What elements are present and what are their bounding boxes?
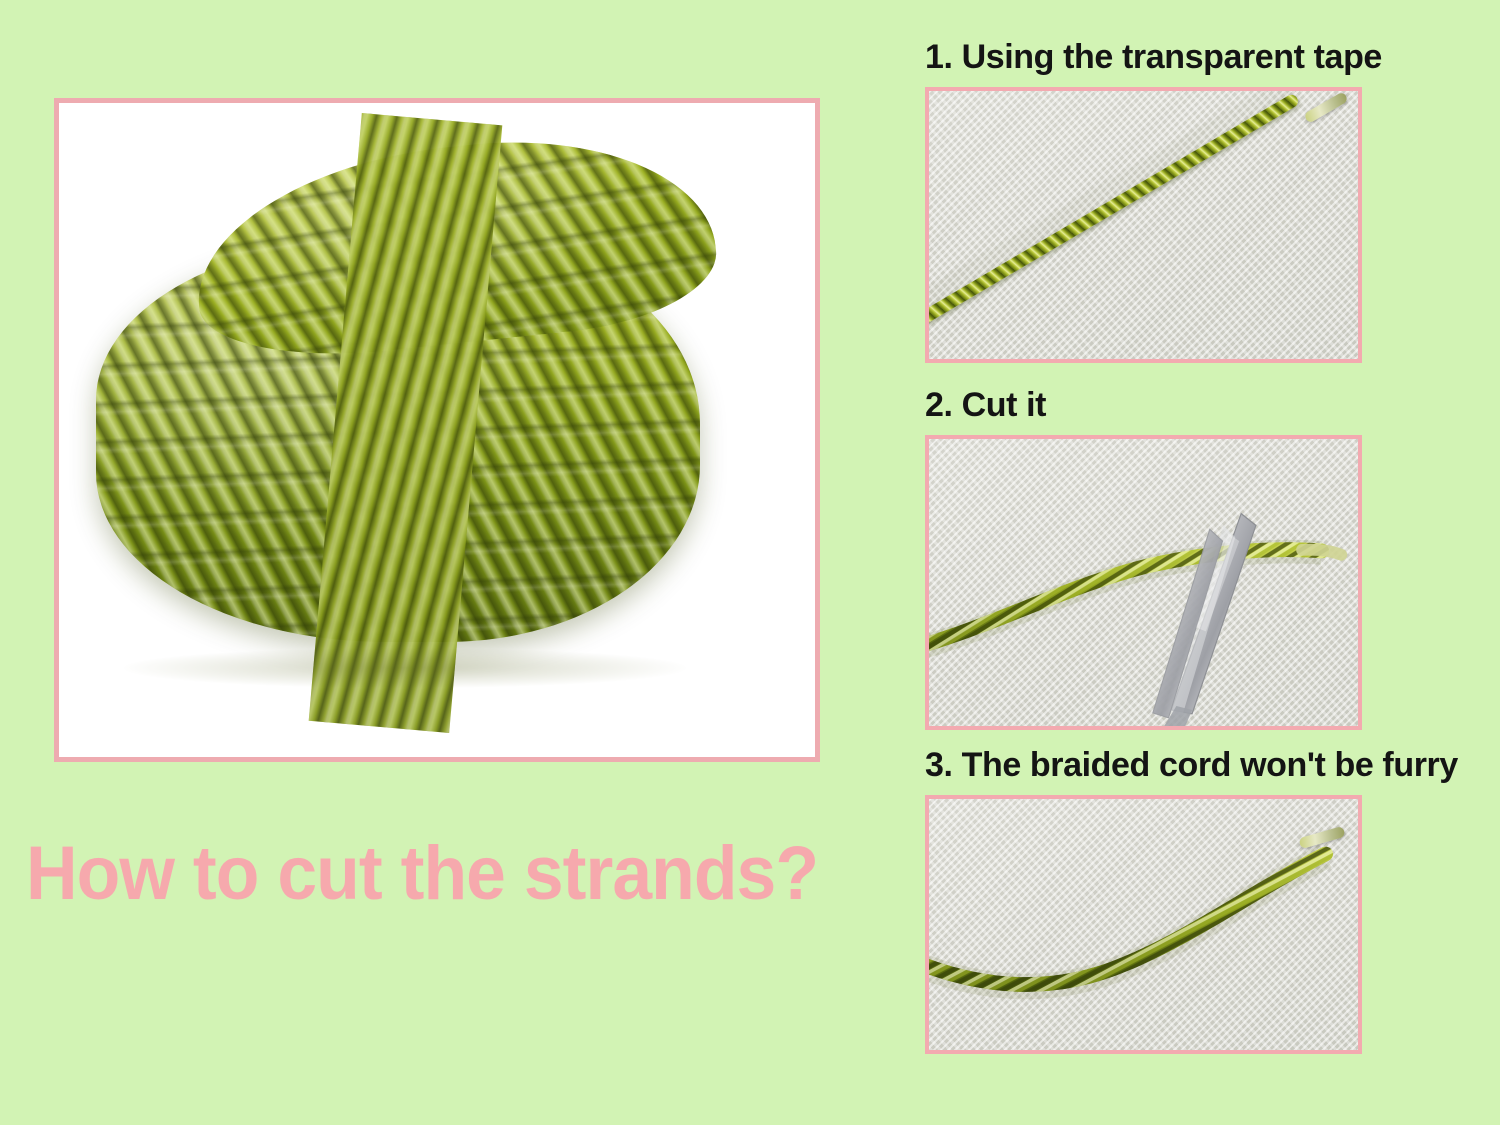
main-photo-canvas: Coiled hank of olive green twisted satin… xyxy=(59,103,815,757)
page-title: How to cut the strands? xyxy=(26,836,825,912)
step-1-photo-alt: Olive green twisted cord lying diagonall… xyxy=(929,91,930,92)
step-3-title: 3. The braided cord won't be furry xyxy=(925,748,1362,782)
cord-straight-1 xyxy=(925,92,1301,330)
step-1-photo: Olive green twisted cord lying diagonall… xyxy=(925,87,1362,363)
main-product-photo: Coiled hank of olive green twisted satin… xyxy=(54,98,820,762)
cord-curve-3 xyxy=(929,799,1358,1053)
step-1-title: 1. Using the transparent tape xyxy=(925,40,1362,74)
main-photo-alt: Coiled hank of olive green twisted satin… xyxy=(59,103,60,104)
rope-hank-illustration xyxy=(82,136,785,712)
step-1: 1. Using the transparent tape Olive gree… xyxy=(925,40,1362,363)
step-2: 2. Cut it xyxy=(925,388,1362,730)
step-3: 3. The braided cord won't be furry xyxy=(925,748,1362,1054)
transparent-tape-tip-icon xyxy=(1304,91,1349,124)
scissors-icon xyxy=(929,439,1358,729)
step-2-photo: Scissors cutting through the taped end o… xyxy=(925,435,1362,730)
step-3-photo: The cut braided cord curving across the … xyxy=(925,795,1362,1054)
step-2-title: 2. Cut it xyxy=(925,388,1362,422)
infographic-root: Coiled hank of olive green twisted satin… xyxy=(0,0,1500,1125)
rope-drop-shadow xyxy=(124,648,686,688)
